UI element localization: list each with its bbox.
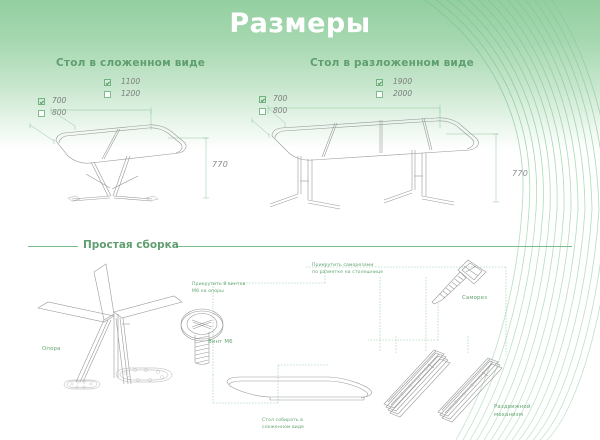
part-label-slide-mechanism-text: Раздвижной механизм: [494, 404, 531, 420]
annotation-screws-to-legs-text: Прикрутить 8 винтов М6 на опоры: [192, 282, 245, 296]
annotation-fold-note-text: Стол собирать в сложенном виде: [262, 418, 304, 432]
annotation-screws-to-top-text: Прикрутить саморезами по разметке на сто…: [312, 263, 383, 277]
poster-page: Размеры Стол в сложенном: [0, 0, 600, 440]
part-label-self-tapping-screw: Саморез: [462, 295, 487, 303]
annotation-screws-to-top: Прикрутить саморезами по разметке на сто…: [312, 263, 383, 277]
part-label-slide-mechanism: Раздвижной механизм: [494, 404, 531, 420]
section-title-assembly: Простая сборка: [83, 239, 179, 251]
drawing-leg-foot-second: [110, 360, 180, 390]
divider-line-left: [28, 246, 78, 247]
section-divider-assembly: Простая сборка: [28, 239, 572, 253]
part-label-opora: Опора: [42, 346, 61, 354]
drawing-table-extended: [250, 68, 540, 208]
annotation-fold-note: Стол собирать в сложенном виде: [262, 418, 304, 432]
divider-line-right: [178, 246, 572, 247]
drawing-table-folded: [28, 68, 243, 203]
page-title: Размеры: [0, 8, 600, 39]
annotation-screws-to-legs: Прикрутить 8 винтов М6 на опоры: [192, 282, 245, 296]
part-label-bolt-m6: Винт М6: [208, 339, 233, 347]
drawing-tabletop-flat: [222, 352, 382, 414]
